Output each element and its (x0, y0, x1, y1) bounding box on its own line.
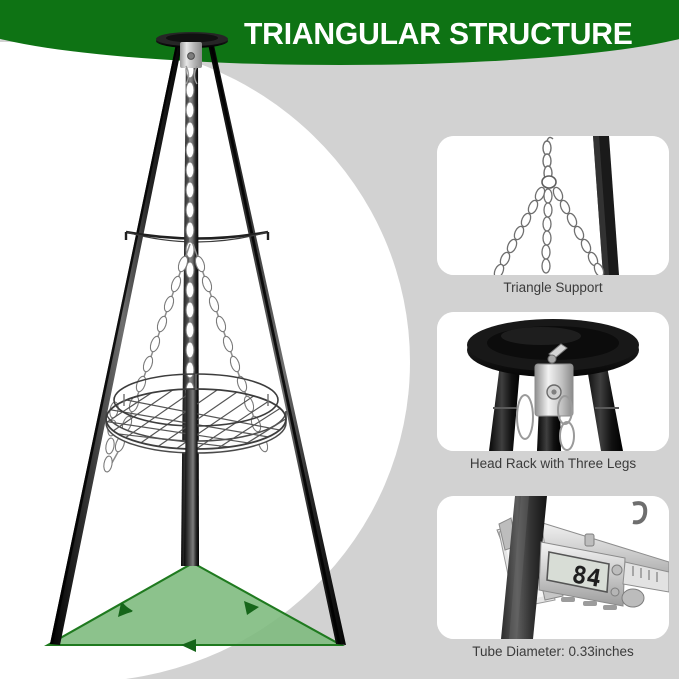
card-head-rack[interactable]: Head Rack with Three Legs (437, 312, 669, 477)
base-direction-triangle (48, 563, 341, 652)
caliper-reading: 84 (570, 560, 603, 593)
center-pole-lower (184, 390, 199, 566)
tripod-head-rack-photo (437, 312, 669, 451)
card-triangle-support[interactable]: Triangle Support (437, 136, 669, 301)
card-tube-diameter[interactable]: 84 (437, 496, 669, 665)
infographic-page: TRIANGULAR STRUCTURE (0, 0, 679, 679)
digital-caliper-measuring-tube-photo: 84 (437, 496, 669, 639)
detail-cards: Triangle Support (432, 136, 674, 672)
card-tube-diameter-caption: Tube Diameter: 0.33inches (437, 639, 669, 665)
chain-triangle-harness-photo (437, 136, 669, 275)
card-head-rack-image (437, 312, 669, 451)
card-head-rack-caption: Head Rack with Three Legs (437, 451, 669, 477)
card-tube-diameter-image: 84 (437, 496, 669, 639)
tripod-leg-left (50, 44, 182, 645)
product-illustration (0, 0, 420, 679)
card-triangle-support-image (437, 136, 669, 275)
tripod-grill-drawing (0, 0, 420, 679)
card-triangle-support-caption: Triangle Support (437, 275, 669, 301)
